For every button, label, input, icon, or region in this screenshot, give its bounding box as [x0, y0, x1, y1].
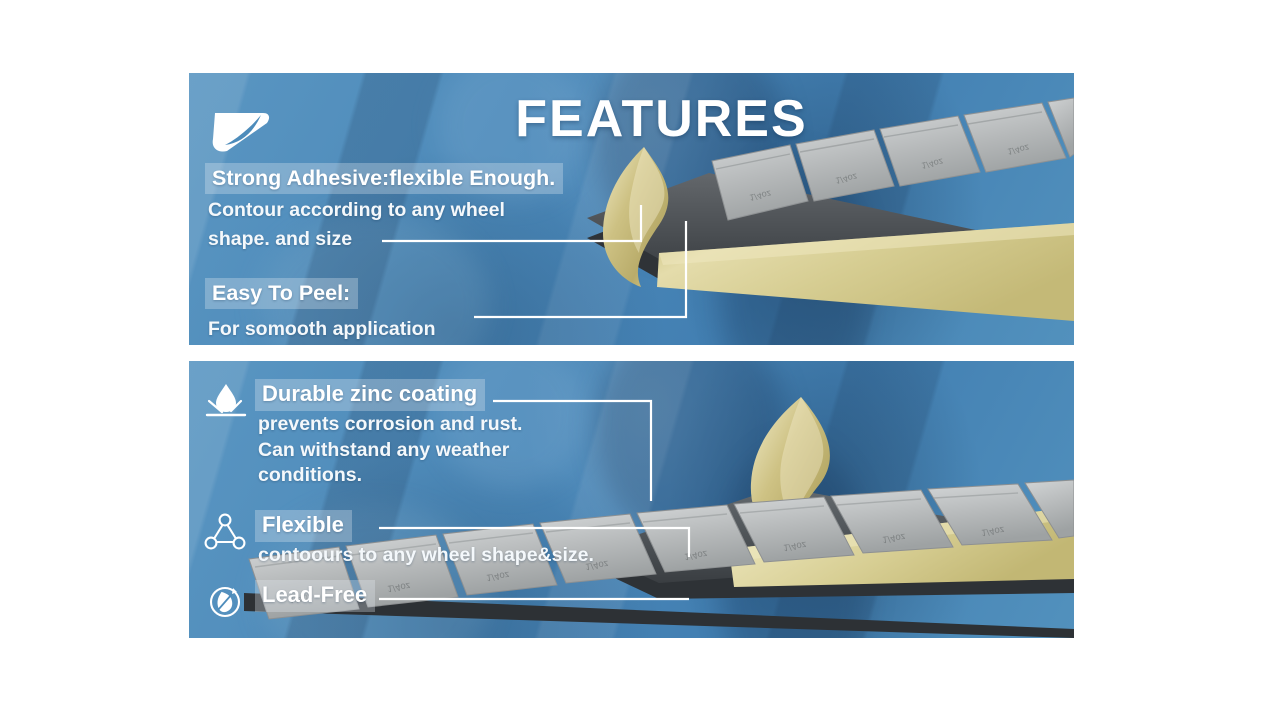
feature-body-line: For somooth application — [205, 317, 635, 342]
benefit-heading: Durable zinc coating — [255, 379, 485, 411]
feature-body-line: Contour according to any wheel — [205, 198, 635, 223]
features-panel: 1/4oz 1/4oz 1/4oz 1/4oz FEATURES Strong … — [189, 73, 1074, 345]
page-title: FEATURES — [189, 89, 1074, 149]
benefit-body-line: conditions. — [255, 464, 659, 488]
leaf-eco-icon — [203, 582, 247, 622]
benefits-text-column: Durable zinc coating prevents corrosion … — [199, 379, 659, 618]
feature-heading: Strong Adhesive:flexible Enough. — [205, 163, 563, 194]
water-repellent-droplet-icon — [203, 381, 247, 421]
benefit-durable-zinc-coating: Durable zinc coating prevents corrosion … — [199, 379, 659, 488]
benefit-heading: Flexible — [255, 510, 352, 542]
benefit-body-line: contoours to any wheel shape&size. — [255, 544, 659, 568]
infographic-stage: 1/4oz 1/4oz 1/4oz 1/4oz FEATURES Strong … — [0, 0, 1280, 720]
flexible-molecule-icon — [203, 512, 247, 552]
benefit-lead-free: Lead-Free — [199, 580, 659, 612]
benefit-body-line: prevents corrosion and rust. — [255, 413, 659, 437]
benefit-body-line: Can withstand any weather — [255, 439, 659, 463]
feature-easy-to-peel: Easy To Peel: For somooth application — [205, 278, 635, 342]
feature-body-line: shape. and size — [205, 227, 635, 252]
benefits-panel: 1/4oz 1/4oz 1/4oz 1/4oz 1/4oz 1/4oz 1/4o… — [189, 361, 1074, 638]
features-text-column: Strong Adhesive:flexible Enough. Contour… — [205, 163, 635, 345]
feature-heading: Easy To Peel: — [205, 278, 358, 309]
benefit-flexible: Flexible contoours to any wheel shape&si… — [199, 510, 659, 568]
feature-strong-adhesive: Strong Adhesive:flexible Enough. Contour… — [205, 163, 635, 252]
benefit-heading: Lead-Free — [255, 580, 375, 612]
